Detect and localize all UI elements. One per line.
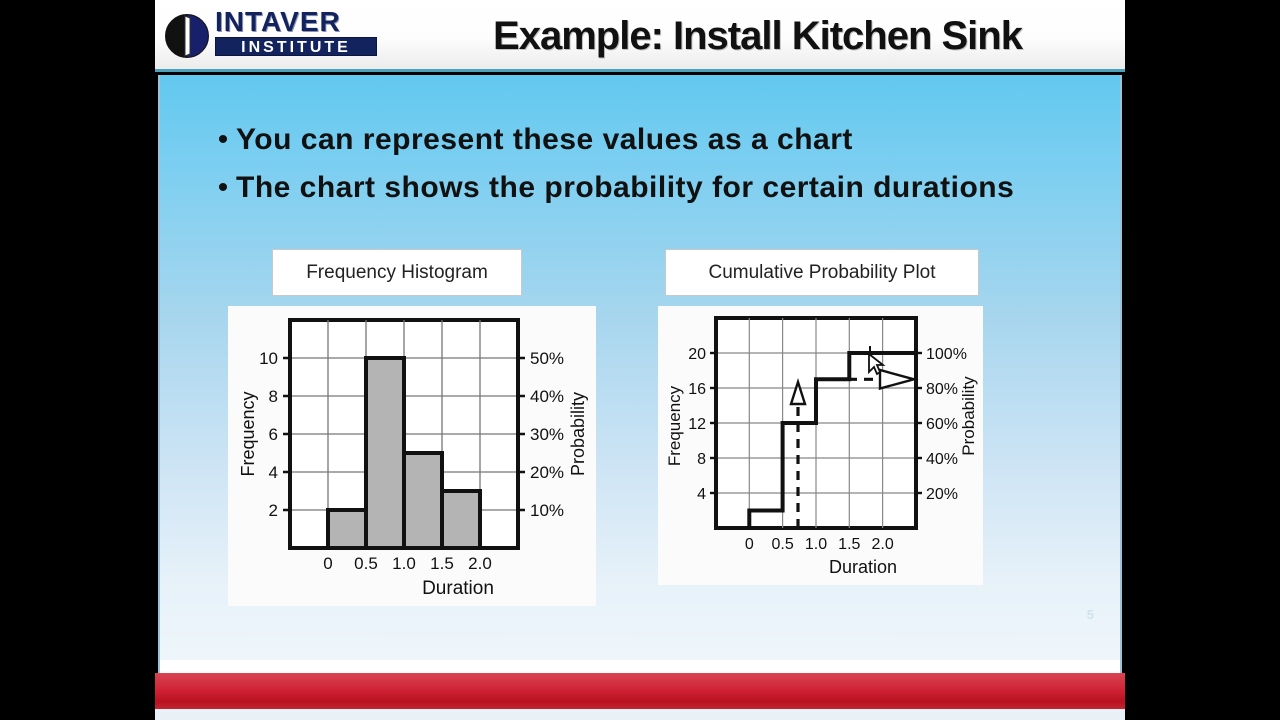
x-tick-label: 0.5 (354, 554, 378, 573)
page-title-text: Example: Install Kitchen Sink (493, 14, 1022, 59)
y-axis-labels: 10 8 6 4 2 (259, 349, 278, 520)
cumulative-probability-plot-svg: 20 16 12 8 4 Frequency (658, 306, 983, 585)
y-tick-label: 6 (269, 425, 278, 444)
y2-tick-label: 20% (530, 463, 564, 482)
x-tick-label: 2.0 (871, 536, 893, 553)
y2-tick-label: 60% (926, 416, 958, 433)
x-tick-label: 0 (745, 536, 754, 553)
y2-axis-title: Probability (959, 376, 978, 456)
y2-tick-label: 20% (926, 486, 958, 503)
cumulative-probability-plot-title: Cumulative Probability Plot (665, 249, 979, 296)
footer-bottom-line (155, 713, 1125, 720)
y2-tick-label: 40% (926, 451, 958, 468)
frequency-histogram-panel: 10 8 6 4 2 Frequency (228, 306, 596, 606)
y2-tick-label: 80% (926, 381, 958, 398)
y-tick-label: 2 (269, 501, 278, 520)
bullet-text: You can represent these values as a char… (236, 120, 853, 160)
y2-tick-label: 40% (530, 387, 564, 406)
x-tick-label: 2.0 (468, 554, 492, 573)
x-axis-labels: 0 0.5 1.0 1.5 2.0 (745, 536, 894, 553)
x-tick-label: 0 (323, 554, 332, 573)
y-tick-label: 4 (269, 463, 278, 482)
y-axis-title: Frequency (665, 385, 684, 466)
x-axis-labels: 0 0.5 1.0 1.5 2.0 (323, 554, 492, 573)
footer-accent-bar (155, 673, 1125, 713)
y-tick-label: 20 (688, 346, 706, 363)
cumulative-probability-plot-title-text: Cumulative Probability Plot (708, 262, 935, 284)
screen: INTAVER INSTITUTE Example: Install Kitch… (0, 0, 1280, 720)
y2-tick-label: 50% (530, 349, 564, 368)
footer-gap (158, 660, 1122, 673)
list-item: • The chart shows the probability for ce… (210, 168, 1110, 208)
y2-axis-title: Probability (568, 392, 588, 476)
presentation-slide: INTAVER INSTITUTE Example: Install Kitch… (155, 0, 1125, 720)
x-axis-title: Duration (422, 578, 494, 599)
x-tick-label: 1.0 (392, 554, 416, 573)
slide-number: 5 (1087, 607, 1094, 622)
x-axis-title: Duration (829, 557, 897, 577)
y-tick-label: 8 (269, 387, 278, 406)
x-tick-label: 1.5 (838, 536, 860, 553)
logo-brand-text: INTAVER (215, 8, 385, 36)
y-tick-label: 8 (697, 451, 706, 468)
frequency-histogram-title: Frequency Histogram (272, 249, 522, 296)
cumulative-probability-plot-panel: 20 16 12 8 4 Frequency (658, 306, 983, 585)
slide-header: INTAVER INSTITUTE Example: Install Kitch… (155, 0, 1125, 72)
y-tick-label: 4 (697, 486, 706, 503)
y-axis-title: Frequency (238, 391, 258, 476)
logo-wordmark: INTAVER INSTITUTE (215, 8, 385, 56)
frequency-histogram-svg: 10 8 6 4 2 Frequency (228, 306, 596, 606)
y2-tick-label: 30% (530, 425, 564, 444)
bullet-marker-icon: • (210, 120, 236, 160)
frequency-histogram-title-text: Frequency Histogram (306, 262, 488, 284)
list-item: • You can represent these values as a ch… (210, 120, 1110, 160)
page-title: Example: Install Kitchen Sink (390, 0, 1125, 72)
slide-body: • You can represent these values as a ch… (158, 75, 1122, 660)
logo-sub-text: INSTITUTE (215, 37, 377, 56)
y-tick-label: 12 (688, 416, 706, 433)
y-tick-label: 16 (688, 381, 706, 398)
y-tick-label: 10 (259, 349, 278, 368)
intaver-logo: INTAVER INSTITUTE (163, 6, 385, 66)
y2-axis-labels: 50% 40% 30% 20% 10% (530, 349, 564, 520)
x-tick-label: 1.0 (805, 536, 827, 553)
y2-tick-label: 10% (530, 501, 564, 520)
y-axis-labels: 20 16 12 8 4 (688, 346, 706, 503)
x-tick-label: 0.5 (771, 536, 793, 553)
bullet-list: • You can represent these values as a ch… (210, 120, 1110, 216)
x-tick-label: 1.5 (430, 554, 454, 573)
bullet-text: The chart shows the probability for cert… (236, 168, 1014, 208)
bullet-marker-icon: • (210, 168, 236, 208)
y2-tick-label: 100% (926, 346, 967, 363)
intaver-circle-logo-icon (163, 12, 211, 60)
